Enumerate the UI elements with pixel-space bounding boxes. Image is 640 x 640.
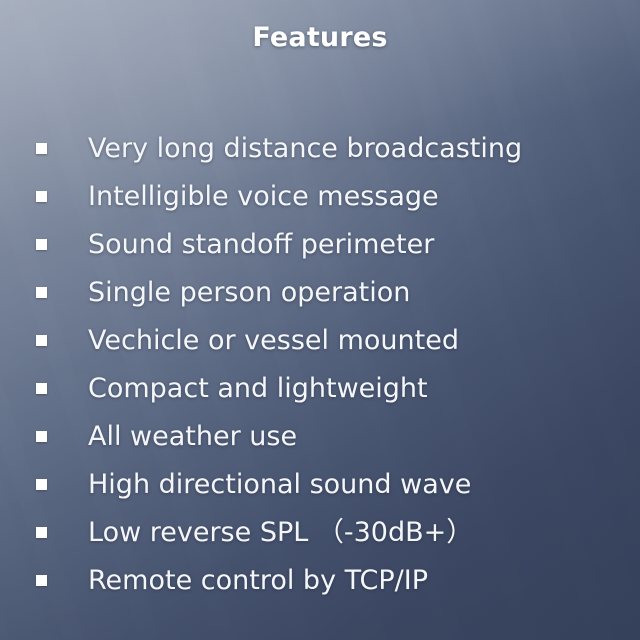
square-bullet-icon bbox=[36, 431, 47, 442]
square-bullet-icon bbox=[36, 287, 47, 298]
square-bullet-icon bbox=[36, 527, 47, 538]
square-bullet-icon bbox=[36, 191, 47, 202]
square-bullet-icon bbox=[36, 479, 47, 490]
list-item: Single person operation bbox=[0, 268, 640, 316]
list-item: Compact and lightweight bbox=[0, 364, 640, 412]
feature-label: Single person operation bbox=[88, 279, 410, 306]
feature-label: Compact and lightweight bbox=[88, 375, 428, 402]
feature-label: Low reverse SPL （-30dB+） bbox=[88, 519, 473, 546]
feature-slide: Features Very long distance broadcasting… bbox=[0, 0, 640, 640]
feature-label: High directional sound wave bbox=[88, 471, 471, 498]
list-item: Remote control by TCP/IP bbox=[0, 556, 640, 604]
list-item: Vechicle or vessel mounted bbox=[0, 316, 640, 364]
feature-label: All weather use bbox=[88, 423, 297, 450]
square-bullet-icon bbox=[36, 143, 47, 154]
list-item: High directional sound wave bbox=[0, 460, 640, 508]
feature-label: Intelligible voice message bbox=[88, 183, 439, 210]
feature-label: Sound standoff perimeter bbox=[88, 231, 434, 258]
list-item: Sound standoff perimeter bbox=[0, 220, 640, 268]
slide-title: Features bbox=[0, 22, 640, 53]
feature-label: Very long distance broadcasting bbox=[88, 135, 522, 162]
square-bullet-icon bbox=[36, 575, 47, 586]
square-bullet-icon bbox=[36, 239, 47, 250]
slide-content: Features Very long distance broadcasting… bbox=[0, 0, 640, 640]
list-item: Intelligible voice message bbox=[0, 172, 640, 220]
list-item: All weather use bbox=[0, 412, 640, 460]
list-item: Very long distance broadcasting bbox=[0, 124, 640, 172]
square-bullet-icon bbox=[36, 335, 47, 346]
list-item: Low reverse SPL （-30dB+） bbox=[0, 508, 640, 556]
feature-list: Very long distance broadcasting Intellig… bbox=[0, 124, 640, 604]
square-bullet-icon bbox=[36, 383, 47, 394]
feature-label: Remote control by TCP/IP bbox=[88, 567, 428, 594]
feature-label: Vechicle or vessel mounted bbox=[88, 327, 459, 354]
